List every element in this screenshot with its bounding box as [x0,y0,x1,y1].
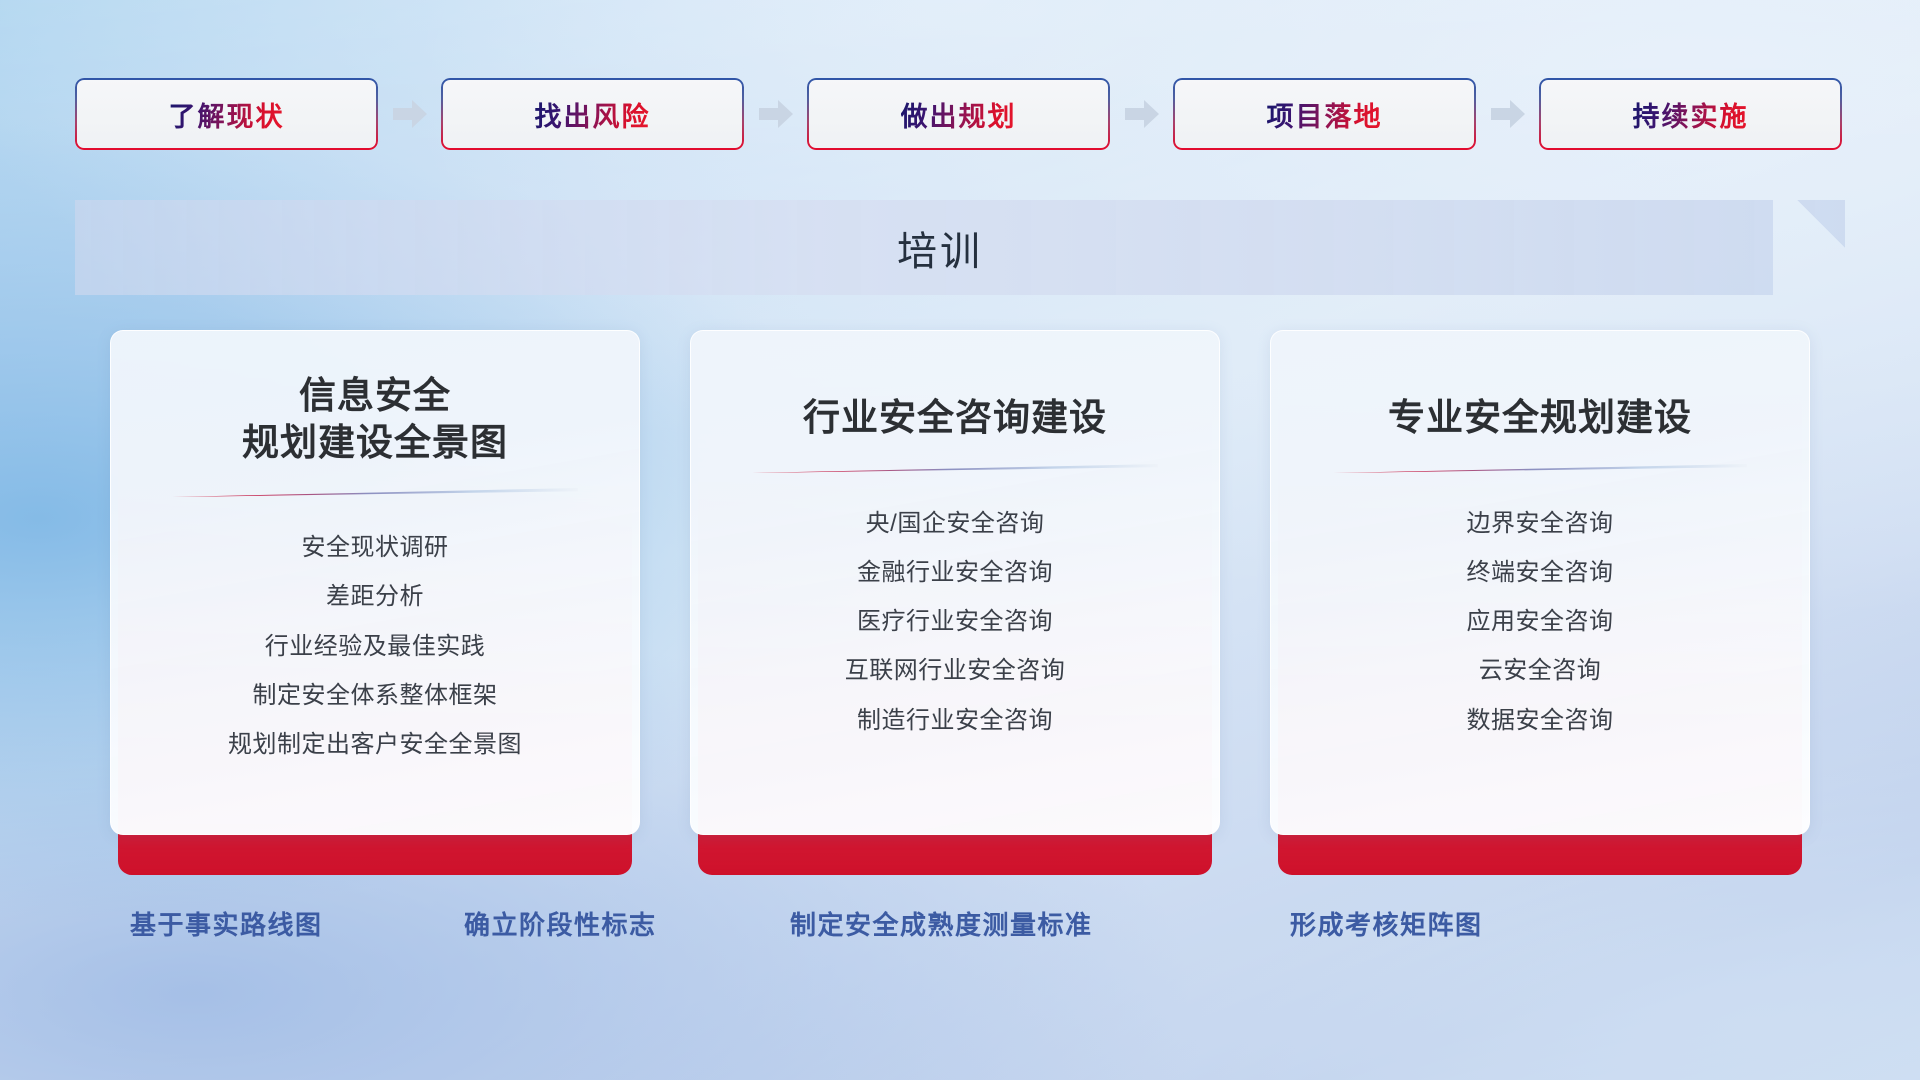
card-title-line-1: 专业安全规划建设 [1271,395,1809,442]
step-item-1[interactable]: 了解现状 [75,78,378,150]
card-item: 差距分析 [326,576,424,617]
banner-title: 培训 [75,200,1845,295]
card-item: 央/国企安全咨询 [866,503,1045,544]
step-item-2[interactable]: 找出风险 [441,78,744,150]
card-item: 边界安全咨询 [1467,503,1614,544]
card-item: 应用安全咨询 [1467,601,1614,642]
card-row: 信息安全 规划建设全景图 安全现状调研 差距分析 [0,330,1920,890]
step-arrow-icon-3 [1110,78,1173,150]
card-item: 规划制定出客户安全全景图 [228,724,522,765]
card-item-list: 安全现状调研 差距分析 行业经验及最佳实践 制定安全体系整体框架 规划制定出客户… [111,527,639,765]
card-title-line-1: 行业安全咨询建设 [691,395,1219,442]
step-arrow-icon-1 [378,78,441,150]
card-divider [752,464,1159,473]
footer-label: 形成考核矩阵图 [1290,905,1483,942]
card-item: 互联网行业安全咨询 [845,650,1066,691]
step-label: 项目落地 [1267,95,1383,134]
step-item-3[interactable]: 做出规划 [807,78,1110,150]
card-item: 行业经验及最佳实践 [265,626,486,667]
step-item-5[interactable]: 持续实施 [1539,78,1842,150]
card-item: 制造行业安全咨询 [857,700,1053,741]
card-item: 云安全咨询 [1479,650,1602,691]
step-label: 了解现状 [169,95,285,134]
step-arrow-icon-4 [1476,78,1539,150]
card-item: 金融行业安全咨询 [857,552,1053,593]
card-title: 信息安全 规划建设全景图 [111,331,639,466]
card-item-list: 央/国企安全咨询 金融行业安全咨询 医疗行业安全咨询 互联网行业安全咨询 制造行… [691,503,1219,741]
card-title-line-1: 信息安全 [111,373,639,420]
training-banner: 培训 [75,200,1845,295]
card-title: 专业安全规划建设 [1271,331,1809,442]
step-arrow-icon-2 [744,78,807,150]
process-step-bar: 了解现状 找出风险 做出规划 项目落地 持续实施 [75,78,1845,150]
footer-label: 制定安全成熟度测量标准 [790,905,1093,942]
card-item: 数据安全咨询 [1467,700,1614,741]
card-1[interactable]: 信息安全 规划建设全景图 安全现状调研 差距分析 [110,330,640,875]
footer-label-row: 基于事实路线图 确立阶段性标志 制定安全成熟度测量标准 形成考核矩阵图 [0,905,1920,975]
card-divider [172,488,579,497]
card-item-list: 边界安全咨询 终端安全咨询 应用安全咨询 云安全咨询 数据安全咨询 [1271,503,1809,741]
card-item: 安全现状调研 [302,527,449,568]
card-title: 行业安全咨询建设 [691,331,1219,442]
card-item: 制定安全体系整体框架 [253,675,498,716]
footer-label: 基于事实路线图 [130,905,323,942]
card-3[interactable]: 专业安全规划建设 边界安全咨询 终端安全咨询 应用安全咨询 [1270,330,1810,875]
card-divider [1333,464,1747,473]
card-2[interactable]: 行业安全咨询建设 央/国企安全咨询 金融行业安全咨询 医疗行业安 [690,330,1220,875]
card-title-line-2: 规划建设全景图 [111,420,639,467]
footer-label: 确立阶段性标志 [464,905,657,942]
card-item: 终端安全咨询 [1467,552,1614,593]
card-item: 医疗行业安全咨询 [857,601,1053,642]
step-item-4[interactable]: 项目落地 [1173,78,1476,150]
step-label: 找出风险 [535,95,651,134]
step-label: 持续实施 [1633,95,1749,134]
step-label: 做出规划 [901,95,1017,134]
